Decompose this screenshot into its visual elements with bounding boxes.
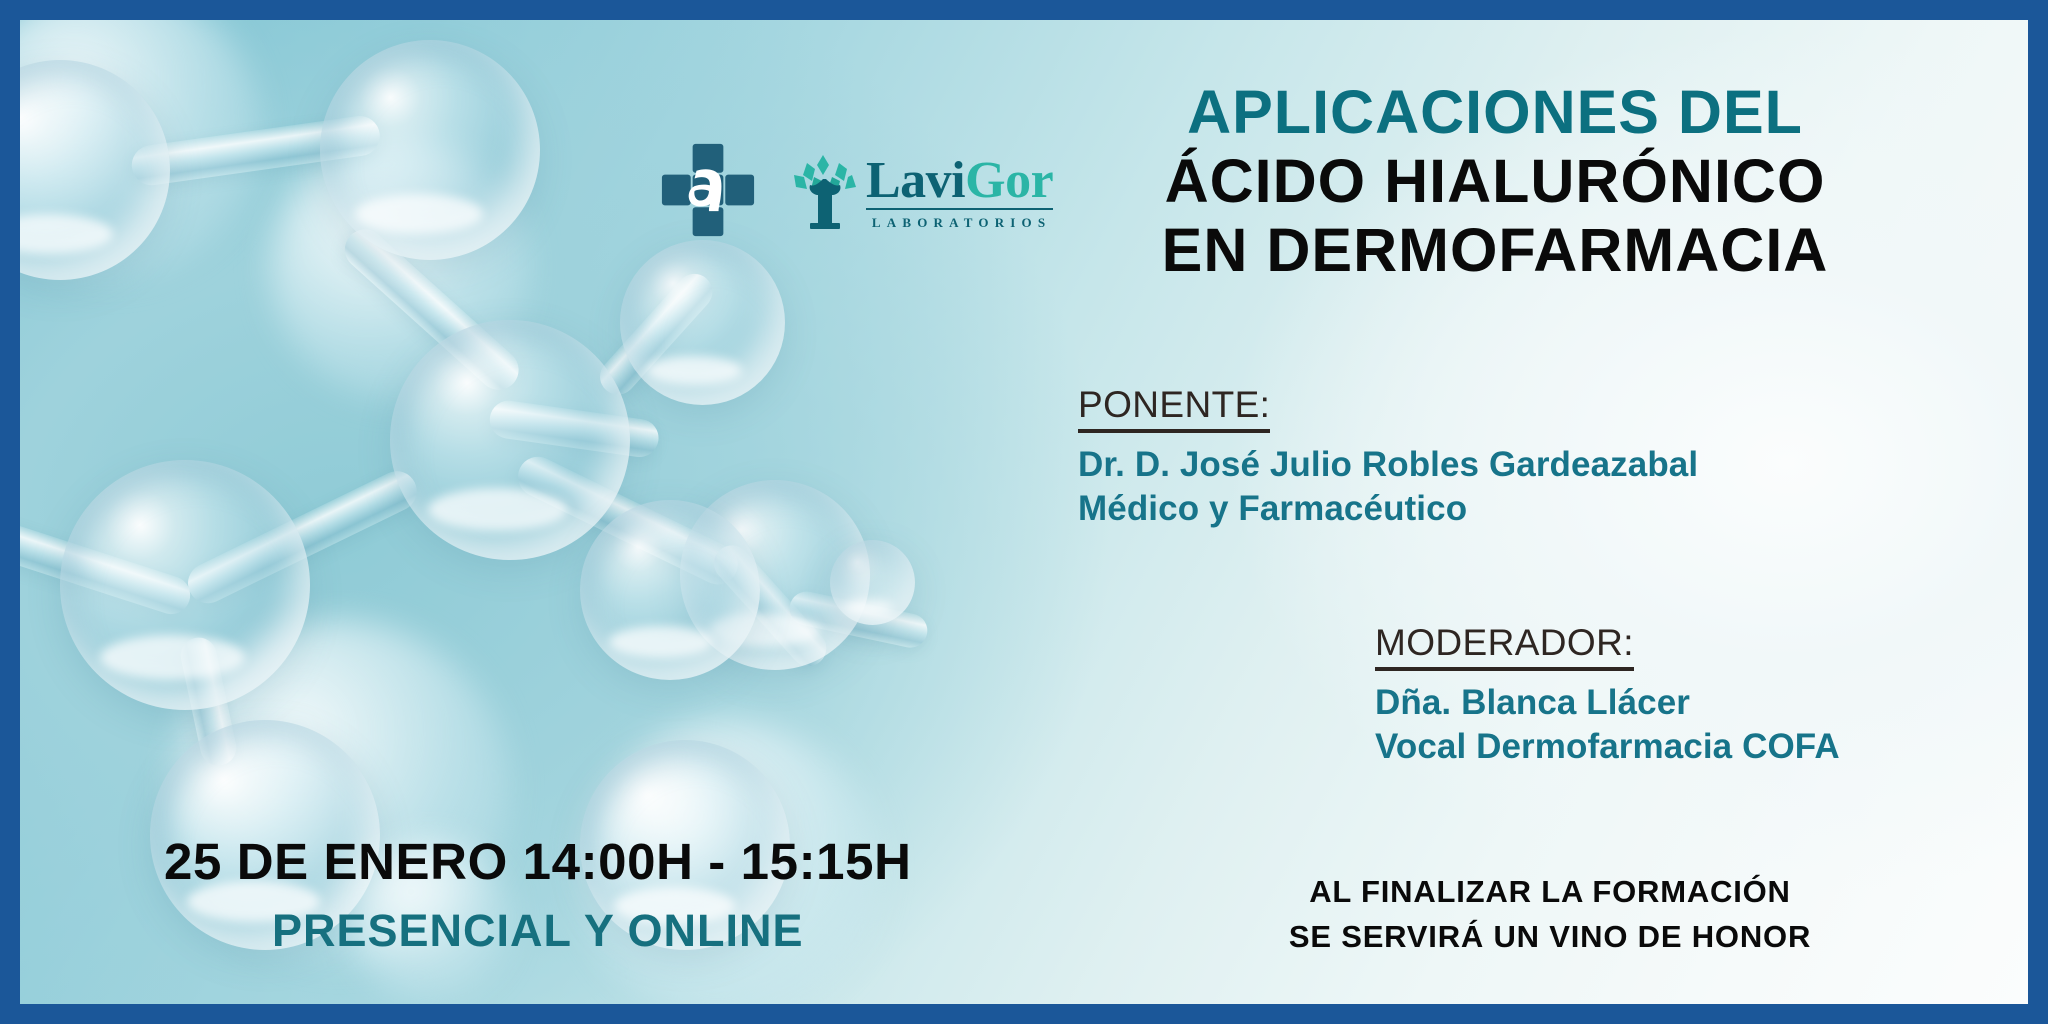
event-date-time: 25 DE ENERO 14:00H - 15:15H xyxy=(164,832,912,891)
speaker-role: Médico y Farmacéutico xyxy=(1078,487,1698,531)
title-line-3: EN DERMOFARMACIA xyxy=(1040,216,1950,285)
moderator-label: MODERADOR: xyxy=(1375,622,1634,671)
moderator-name: Dña. Blanca Llácer xyxy=(1375,681,1840,725)
title-line-2: ÁCIDO HIALURÓNICO xyxy=(1040,147,1950,216)
page-title: APLICACIONES DEL ÁCIDO HIALURÓNICO EN DE… xyxy=(1040,78,1950,285)
lavigor-tagline: LABORATORIOS xyxy=(866,215,1053,231)
moderator-block: MODERADOR: Dña. Blanca Llácer Vocal Derm… xyxy=(1375,622,1840,770)
logo-row: LaviGor LABORATORIOS xyxy=(660,142,1053,238)
lavigor-logo: LaviGor LABORATORIOS xyxy=(790,149,1053,231)
moderator-role: Vocal Dermofarmacia COFA xyxy=(1375,725,1840,769)
event-mode: PRESENCIAL Y ONLINE xyxy=(164,905,912,957)
event-poster: LaviGor LABORATORIOS APLICACIONES DEL ÁC… xyxy=(0,0,2048,1024)
title-line-1: APLICACIONES DEL xyxy=(1040,78,1950,147)
speaker-name: Dr. D. José Julio Robles Gardeazabal xyxy=(1078,443,1698,487)
tree-icon xyxy=(790,149,860,231)
footer-note: AL FINALIZAR LA FORMACIÓN SE SERVIRÁ UN … xyxy=(1250,870,1850,960)
poster-canvas: LaviGor LABORATORIOS APLICACIONES DEL ÁC… xyxy=(20,20,2028,1004)
event-datetime-block: 25 DE ENERO 14:00H - 15:15H PRESENCIAL Y… xyxy=(164,832,912,957)
footer-note-line-2: SE SERVIRÁ UN VINO DE HONOR xyxy=(1250,915,1850,960)
lavigor-rule xyxy=(866,208,1053,210)
lavigor-name-primary: Lavi xyxy=(866,152,965,209)
speaker-label: PONENTE: xyxy=(1078,384,1270,433)
footer-note-line-1: AL FINALIZAR LA FORMACIÓN xyxy=(1250,870,1850,915)
pharmacy-cross-icon xyxy=(660,142,756,238)
speaker-block: PONENTE: Dr. D. José Julio Robles Gardea… xyxy=(1078,384,1698,532)
